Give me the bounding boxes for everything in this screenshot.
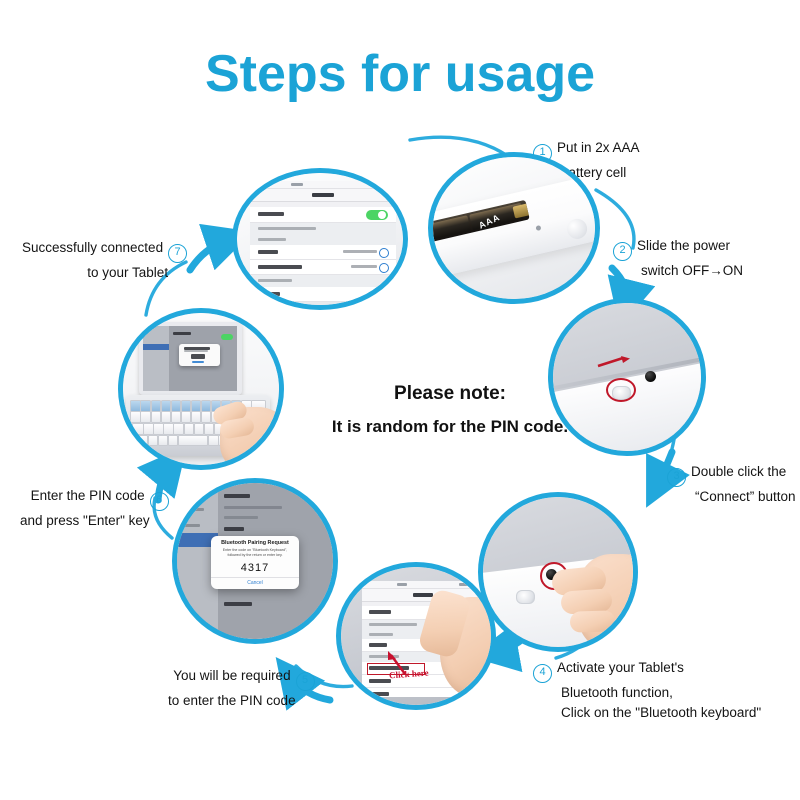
step-3-line-1: Double click the: [691, 464, 786, 479]
step-4-badge: 4: [533, 664, 552, 683]
step-6-line-2: and press "Enter" key: [20, 511, 174, 531]
step-5-line-2: to enter the PIN code: [168, 691, 320, 711]
step-5-text: You will be required5 to enter the PIN c…: [168, 666, 320, 711]
power-switch-photo: [548, 298, 706, 456]
step-2-line-2: switch OFF→ON: [608, 261, 743, 281]
typing-pin-photo: [118, 308, 284, 470]
step-4-line-2: Bluetooth function,: [528, 683, 761, 703]
step-2-badge: 2: [613, 242, 632, 261]
connect-button-photo: [478, 492, 638, 652]
step-5-line-1: You will be required: [173, 668, 290, 683]
pairing-request-photo: Bluetooth Pairing Request Enter the code…: [172, 478, 338, 644]
step-2-line-1: Slide the power: [637, 238, 730, 253]
step-6-line-1: Enter the PIN code: [31, 488, 145, 503]
tablet-bluetooth-list-photo: Click here: [336, 562, 496, 710]
connect-button: [645, 371, 656, 382]
step-3-badge: 3: [667, 468, 686, 487]
infographic-canvas: Steps for usage: [0, 0, 800, 800]
step-4-text: 4Activate your Tablet's Bluetooth functi…: [528, 658, 761, 723]
arrow-step-7: [190, 240, 228, 270]
tablet-device: [139, 322, 242, 395]
space-key: [178, 435, 209, 447]
step-3-line-2: “Connect” button: [662, 487, 796, 507]
page-title: Steps for usage: [0, 44, 800, 104]
step-7-line-1: Successfully connected: [22, 240, 163, 255]
step-7-badge: 7: [168, 244, 187, 263]
step-6-text: Enter the PIN code6 and press "Enter" ke…: [20, 486, 174, 531]
step-2-text: 2Slide the power switch OFF→ON: [608, 236, 743, 281]
pairing-dialog-message: Enter the code on "Bluetooth Keyboard", …: [211, 546, 298, 558]
pairing-dialog-title: Bluetooth Pairing Request: [211, 540, 298, 546]
pairing-dialog: Bluetooth Pairing Request Enter the code…: [211, 536, 298, 589]
step-4-line-1: Activate your Tablet's: [557, 660, 684, 675]
step-7-line-2: to your Tablet: [22, 263, 192, 283]
bluetooth-connected-photo: [232, 168, 408, 310]
step-3-text: 3Double click the “Connect” button: [662, 462, 796, 507]
step-7-text: Successfully connected7 to your Tablet: [22, 238, 192, 283]
step-6-badge: 6: [150, 492, 169, 511]
red-direction-arrow: [597, 356, 631, 368]
pairing-cancel-button[interactable]: Cancel: [211, 577, 298, 589]
step-5-badge: 5: [296, 672, 315, 691]
step-1-line-1: Put in 2x AAA: [557, 140, 640, 155]
battery-compartment-photo: AAA: [428, 152, 600, 304]
pairing-pin-code: 4317: [211, 562, 298, 574]
step-4-line-3: Click on the "Bluetooth keyboard": [528, 703, 761, 723]
